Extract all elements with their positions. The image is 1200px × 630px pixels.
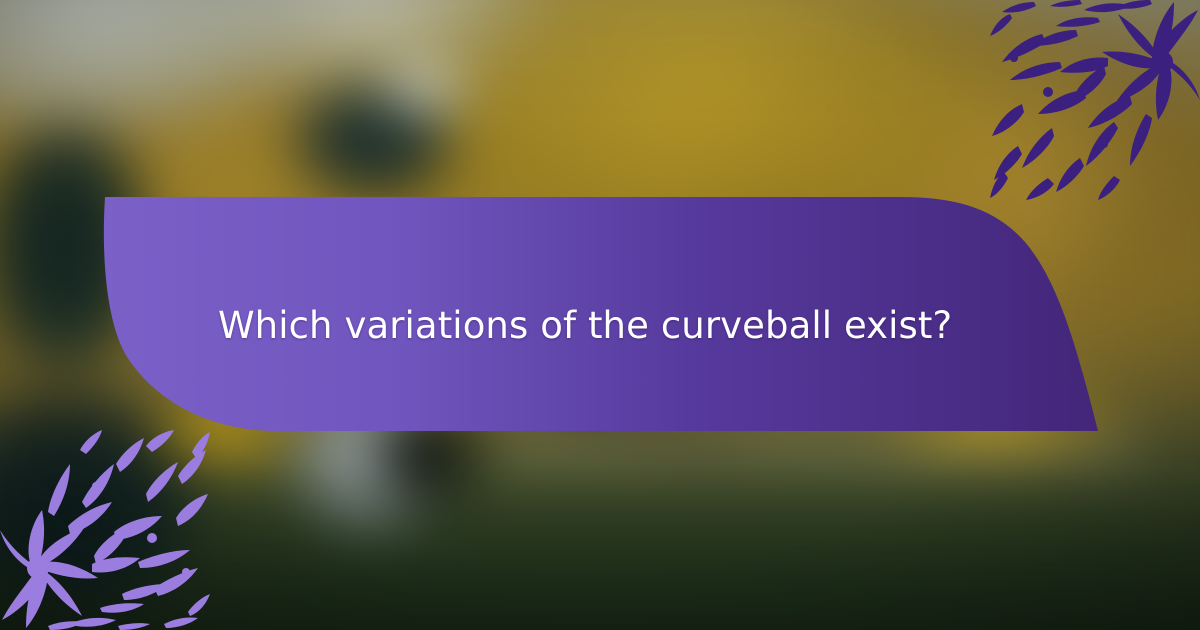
damask-corner-ornament-top-right bbox=[990, 0, 1200, 200]
damask-corner-ornament-bottom-left bbox=[0, 430, 210, 630]
share-card: Which variations of the curveball exist? bbox=[0, 0, 1200, 630]
page-title: Which variations of the curveball exist? bbox=[218, 302, 1018, 350]
